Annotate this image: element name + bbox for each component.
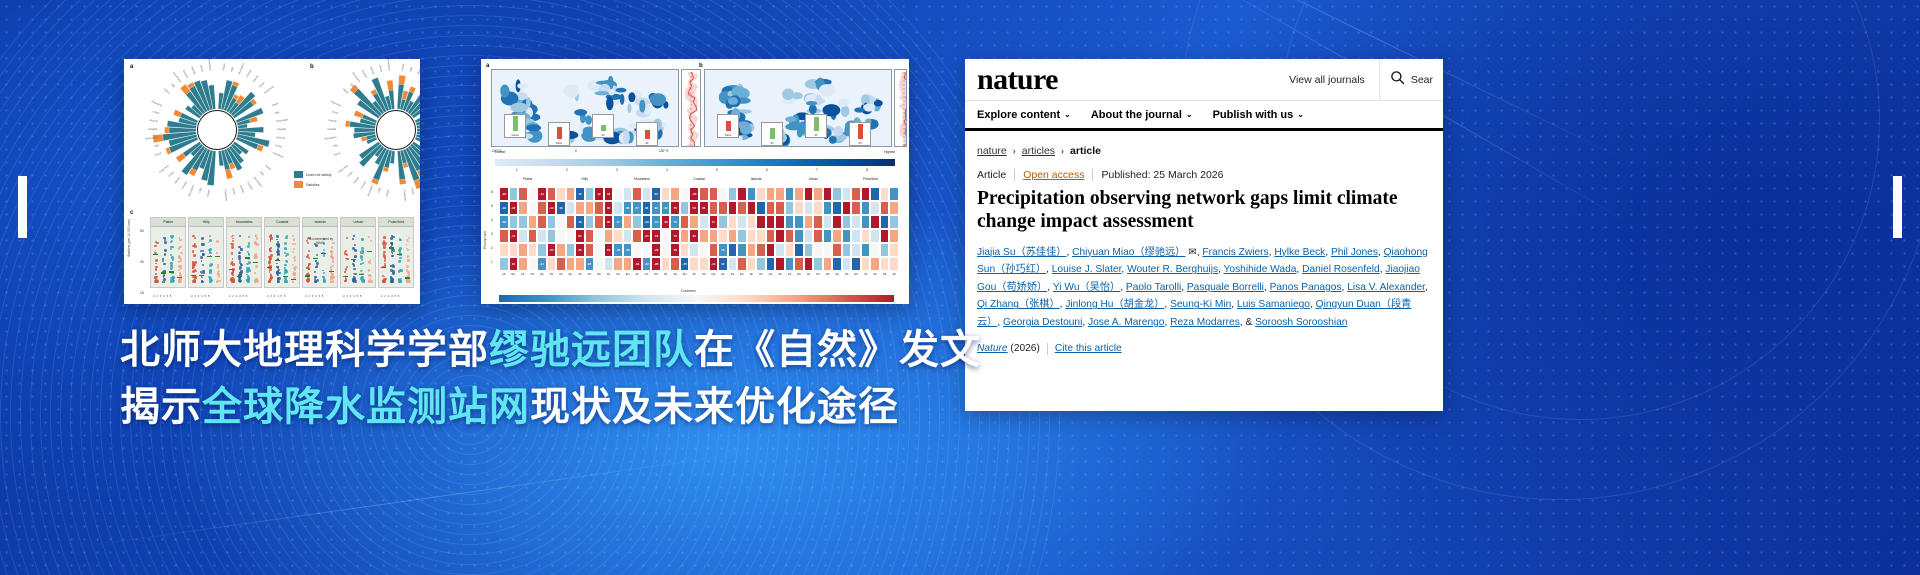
heatmap-xtick: SA: [604, 273, 614, 276]
strip-point: [270, 276, 272, 278]
heatmap-cell: [889, 243, 899, 257]
heatmap-cell: -20: [689, 187, 699, 201]
strip-point: [202, 264, 204, 266]
author-link[interactable]: Panos Panagos: [1270, 282, 1342, 293]
envelope-icon[interactable]: ✉: [1185, 247, 1196, 258]
heatmap-cell: [689, 215, 699, 229]
strip-point: [277, 280, 280, 283]
author-link[interactable]: Paolo Tarolli: [1126, 282, 1181, 293]
heatmap-cell: [728, 215, 738, 229]
strip-point: [218, 276, 220, 278]
author-link[interactable]: Qi Zhang（张棋）: [977, 299, 1060, 310]
strip-point: [269, 250, 272, 253]
author-conjunction: &: [1245, 317, 1255, 328]
heatmap-cell: [604, 257, 614, 271]
headline-run: 现状及未来优化途径: [530, 384, 899, 430]
heatmap-cell: -42: [613, 243, 623, 257]
strip-point: [368, 269, 370, 271]
open-access-link[interactable]: Open access: [1023, 169, 1084, 181]
heatmap-cell: [842, 243, 852, 257]
strip-point: [155, 259, 158, 262]
strip-point: [192, 261, 193, 262]
colorbar-diverging-gradient: [499, 295, 894, 302]
heatmap-cell: 38: [642, 201, 652, 215]
wmo-reference-dash: [381, 267, 385, 268]
strip-point: [238, 257, 241, 260]
strip-point: [308, 263, 311, 266]
heatmap-cell: [718, 201, 728, 215]
heatmap-ylabel: Priority rank: [483, 231, 487, 249]
strip-point: [208, 242, 210, 244]
author-link[interactable]: Georgia Destouni: [1003, 317, 1082, 328]
heatmap-cell: [728, 243, 738, 257]
map-inset-label: Plains: [718, 134, 738, 137]
heatmap-cell: [670, 187, 680, 201]
strip-point: [192, 270, 195, 273]
strip-point: [256, 256, 258, 258]
strip-point: [232, 238, 233, 239]
heatmap-cell: [509, 243, 519, 257]
heatmap-cell: [766, 243, 776, 257]
heatmap-cell: [537, 229, 547, 243]
colorbar-high-label: Highest: [884, 150, 895, 154]
map-inset-box: Plains: [717, 114, 739, 138]
panel-c-ylabel: Stations (per 10,000 km²): [127, 219, 131, 257]
strip-point: [369, 278, 371, 280]
map-inset-label: SA: [762, 142, 782, 145]
heatmap-cell: [528, 215, 538, 229]
heatmap-cell: [680, 215, 690, 229]
author-link[interactable]: Chiyuan Miao（缪驰远）: [1072, 247, 1185, 258]
strip-point: [156, 242, 159, 245]
strip-facet: Urban2 2 3 4 5 5: [340, 217, 376, 288]
heatmap-cell: -11: [709, 257, 719, 271]
cite-this-article-link[interactable]: Cite this article: [1055, 343, 1122, 354]
svg-text:Hilly: Hilly: [408, 66, 413, 72]
strip-point: [383, 246, 386, 249]
heatmap-cell: [689, 257, 699, 271]
strip-facet-xticks: 2 2 3 4 5 5: [343, 295, 362, 298]
colorbar-tick: 8: [866, 168, 868, 172]
heatmap-xtick: AS: [556, 273, 566, 276]
heatmap-cell: [594, 229, 604, 243]
heatmap-cell: -32: [642, 257, 652, 271]
strip-point: [162, 260, 164, 262]
inset-line-b: [894, 69, 907, 147]
heatmap-cell: [728, 187, 738, 201]
author-link[interactable]: Pasquale Borrelli: [1187, 282, 1264, 293]
strip-point: [408, 237, 410, 239]
heatmap-cell: [528, 201, 538, 215]
strip-point: [171, 240, 173, 242]
nav-label: Publish with us: [1213, 109, 1294, 121]
colorbar-tick: 5: [716, 168, 718, 172]
nature-logo[interactable]: nature: [977, 65, 1058, 95]
strip-point: [286, 281, 288, 283]
strip-point: [256, 243, 259, 246]
breadcrumb-separator: ›: [1061, 146, 1064, 156]
strip-point: [164, 249, 166, 251]
strip-point: [382, 242, 385, 245]
map-inset-bar: [557, 127, 562, 139]
strip-point: [209, 272, 211, 274]
heatmap-cell: 36: [604, 215, 614, 229]
heatmap-group-label: Islands: [728, 177, 785, 181]
heatmap-xtick: SA: [661, 273, 671, 276]
view-all-journals-link[interactable]: View all journals: [1275, 74, 1379, 86]
colorbar-tick: 6: [766, 168, 768, 172]
svg-text:Islands: Islands: [328, 118, 337, 123]
strip-point: [354, 273, 357, 276]
heatmap-cell: [556, 243, 566, 257]
svg-text:Mountains: Mountains: [416, 62, 420, 75]
heatmap-cell: [718, 215, 728, 229]
heatmap-cell: -11: [537, 187, 547, 201]
heatmap-cell: [851, 243, 861, 257]
strip-point: [276, 243, 278, 245]
svg-text:Hilly: Hilly: [333, 143, 339, 148]
strip-point: [232, 271, 234, 273]
strip-point: [232, 274, 234, 276]
strip-point: [276, 272, 279, 275]
search-label[interactable]: Sear: [1411, 74, 1433, 86]
heatmap-cell: -14: [547, 201, 557, 215]
legend-item: Does not satisfy: [294, 171, 332, 178]
strip-point: [293, 248, 294, 249]
svg-text:Polar/Arid: Polar/Arid: [402, 189, 407, 201]
strip-point: [368, 261, 371, 264]
strip-point: [201, 237, 204, 240]
strip-point: [322, 270, 324, 272]
heatmap-xtick: AS: [728, 273, 738, 276]
strip-facet-xticks: 2 2 3 4 5 5: [191, 295, 210, 298]
strip-point: [292, 281, 294, 283]
heatmap-cell: [566, 215, 576, 229]
author-link[interactable]: Phil Jones: [1331, 247, 1378, 258]
author-link[interactable]: Lisa V. Alexander: [1347, 282, 1425, 293]
heatmap-cell: [518, 215, 528, 229]
wmo-reference-dash: [313, 258, 317, 259]
heatmap-xtick: EU: [566, 273, 576, 276]
strip-point: [179, 239, 181, 241]
heatmap-cell: [880, 187, 890, 201]
heatmap-cell: [556, 215, 566, 229]
strip-point: [269, 259, 271, 261]
heatmap-cell: 73: [670, 229, 680, 243]
map-inset-box: Global: [504, 114, 526, 138]
heatmap-cell: [699, 215, 709, 229]
heatmap-xtick: EU: [680, 273, 690, 276]
author-link[interactable]: Yoshihide Wada: [1224, 264, 1297, 275]
heatmap-cell: [851, 257, 861, 271]
heatmap-cell: [804, 243, 814, 257]
heatmap-cell: [585, 187, 595, 201]
strip-point: [192, 251, 194, 253]
heatmap-cell: [842, 229, 852, 243]
svg-text:Mountains: Mountains: [351, 71, 362, 83]
wmo-reference-dash: [215, 256, 219, 257]
heatmap-cell: [785, 243, 795, 257]
heatmap-cell: [813, 187, 823, 201]
nav-item-about-the-journal[interactable]: About the journal ⌄: [1091, 109, 1193, 121]
author-link[interactable]: Yi Wu（吴怡）: [1053, 282, 1120, 293]
article-title: Precipitation observing network gaps lim…: [965, 181, 1443, 234]
heatmap-xtick: AS: [613, 273, 623, 276]
wmo-reference-dash: [253, 262, 257, 263]
heatmap-cell: 33: [651, 187, 661, 201]
heatmap-cell: [566, 229, 576, 243]
heatmap-cell: [785, 201, 795, 215]
breadcrumb-item-article: article: [1070, 145, 1101, 157]
strip-point: [171, 256, 174, 259]
colorbar-tick: 4: [666, 168, 668, 172]
heatmap-cell: [747, 229, 757, 243]
author-link[interactable]: Daniel Rosenfeld: [1302, 264, 1380, 275]
strip-point: [231, 246, 234, 249]
strip-point: [164, 241, 167, 244]
heatmap-cell: [585, 201, 595, 215]
heatmap-cell: 35: [575, 243, 585, 257]
strip-point: [316, 254, 318, 256]
author-link[interactable]: Jinlong Hu（胡金龙）: [1065, 299, 1164, 310]
heatmap-ytick: 4: [491, 218, 493, 222]
heatmap-cell: 53: [689, 201, 699, 215]
colorbar-tick: 7: [816, 168, 818, 172]
breadcrumb-item-nature[interactable]: nature: [977, 145, 1007, 157]
strip-point: [209, 269, 211, 271]
heatmap-cell: [632, 229, 642, 243]
heatmap-cell: [870, 215, 880, 229]
svg-text:Urban: Urban: [378, 64, 384, 72]
author-link[interactable]: Jose A. Marengo: [1088, 317, 1164, 328]
nav-label: Explore content: [977, 109, 1060, 121]
heatmap-xtick: AF: [804, 273, 814, 276]
heatmap-cell: [613, 229, 623, 243]
strip-point: [202, 271, 205, 274]
breadcrumb-item-articles[interactable]: articles: [1022, 145, 1055, 157]
strip-facet-xticks: 2 2 3 4 5 5: [153, 295, 172, 298]
heatmap-cell: [728, 257, 738, 271]
strip-point: [269, 281, 271, 283]
heatmap-cell: [728, 201, 738, 215]
heatmap-group-label: Polar/Arid: [842, 177, 899, 181]
author-link[interactable]: Soroosh Sorooshian: [1255, 317, 1347, 328]
heatmap-cell: [813, 257, 823, 271]
strip-point: [194, 243, 196, 245]
heatmap-cell: 12: [594, 187, 604, 201]
map-inset-box: AF: [805, 114, 827, 138]
map-inset-label: SA: [593, 134, 613, 137]
headline-line-1: 北师大地理科学学部缪驰远团队在《自然》发文: [120, 322, 950, 379]
strip-point: [218, 280, 221, 283]
strip-point: [155, 250, 156, 251]
strip-point: [247, 245, 250, 248]
strip-point: [332, 265, 334, 267]
heatmap-cell: [566, 187, 576, 201]
heatmap-cell: [585, 229, 595, 243]
author-link[interactable]: Reza Modarres: [1170, 317, 1240, 328]
heatmap-cell: [889, 215, 899, 229]
heatmap-cell: [794, 257, 804, 271]
strip-facet-xticks: 2 2 3 4 5 5: [229, 295, 248, 298]
heatmap-cell: -23: [661, 215, 671, 229]
heatmap-xtick: NA: [880, 273, 890, 276]
panel-c-ytick: 30: [140, 260, 144, 264]
strip-point: [346, 258, 349, 261]
strip-point: [201, 243, 203, 245]
heatmap-cell: [880, 243, 890, 257]
heatmap-cell: [794, 215, 804, 229]
map-inset-bar: [770, 128, 775, 139]
heatmap-cell: [823, 229, 833, 243]
strip-point: [171, 280, 173, 282]
colorbar-low-label: Lowest: [495, 150, 505, 154]
heatmap-group-label: Urban: [785, 177, 842, 181]
strip-point: [239, 272, 241, 274]
heatmap-cell: [737, 229, 747, 243]
strip-point: [346, 237, 348, 239]
wmo-reference-dash: [229, 269, 233, 270]
author-link[interactable]: Jiajia Su（苏佳佳）: [977, 247, 1066, 258]
legend-item: Satisfies: [294, 181, 332, 188]
heatmap-cell: [737, 257, 747, 271]
strip-point: [232, 258, 233, 259]
strip-point: [323, 272, 325, 274]
svg-text:Plains: Plains: [400, 62, 405, 70]
heatmap-cell: [804, 201, 814, 215]
nav-item-explore-content[interactable]: Explore content ⌄: [977, 109, 1071, 121]
heatmap-cell: [775, 215, 785, 229]
strip-point: [210, 280, 212, 282]
author-separator: ,: [1425, 282, 1428, 293]
heatmap-cell: [842, 187, 852, 201]
heatmap-cell: [851, 229, 861, 243]
heatmap-cell: -22: [509, 201, 519, 215]
strip-point: [162, 258, 164, 260]
heatmap-cell: [842, 215, 852, 229]
strip-point: [216, 252, 218, 254]
heatmap-xtick: OC: [528, 273, 538, 276]
strip-facet-xticks: 2 2 3 4 5 5: [267, 295, 286, 298]
strip-point: [330, 235, 332, 237]
strip-point: [354, 244, 357, 247]
strip-point: [406, 244, 408, 246]
heatmap-cell: [794, 229, 804, 243]
strip-point: [293, 238, 296, 241]
heatmap-xtick: NA: [537, 273, 547, 276]
heatmap-cell: [785, 187, 795, 201]
map-inset-label: AF: [806, 134, 826, 137]
heatmap-cell: [747, 257, 757, 271]
chevron-down-icon: ⌄: [1186, 111, 1193, 119]
svg-text:Plains: Plains: [385, 188, 390, 196]
author-link[interactable]: Wouter R. Berghuijs: [1127, 264, 1218, 275]
strip-facet: Hilly2 2 3 4 5 5: [188, 217, 224, 288]
heatmap-cell: [775, 257, 785, 271]
nav-label: About the journal: [1091, 109, 1182, 121]
strip-facet: Polar/Arid2 2 3 4 5 5: [378, 217, 414, 288]
strip-point: [407, 241, 408, 242]
strip-facet: Plains2 2 3 4 5 5: [150, 217, 186, 288]
headline-run: 缪驰远团队: [489, 327, 694, 373]
heatmap-cell: [737, 187, 747, 201]
heatmap-cell: [832, 243, 842, 257]
citation-journal[interactable]: Nature: [977, 343, 1008, 354]
heatmap-cell: [594, 201, 604, 215]
heatmap-cell: [594, 243, 604, 257]
heatmap-cell: [851, 201, 861, 215]
author-link[interactable]: Louise J. Slater: [1052, 264, 1122, 275]
headline-run: 北师大地理科学学部: [120, 327, 489, 373]
heatmap-cell: [832, 201, 842, 215]
accent-bar-left: [18, 176, 27, 238]
author-link[interactable]: Francis Zwiers: [1202, 247, 1268, 258]
wmo-reference-dash: [161, 272, 165, 273]
strip-point: [346, 254, 348, 256]
strip-point: [248, 236, 250, 238]
heatmap-xtick: AS: [499, 273, 509, 276]
strip-point: [406, 235, 407, 236]
heatmap-grid: -16-11-18-22-14-18-17-2410-2115124440304…: [499, 187, 899, 271]
wmo-reference-dash: [351, 259, 355, 260]
strip-facet-xticks: 2 2 3 4 5 5: [381, 295, 400, 298]
author-link[interactable]: Seung-Ki Min: [1170, 299, 1231, 310]
strip-point: [256, 237, 258, 239]
wmo-reference-dash: [305, 275, 309, 276]
heatmap-cell: 12: [718, 257, 728, 271]
heatmap-cell: [766, 187, 776, 201]
heatmap-cell: -17: [509, 229, 519, 243]
author-link[interactable]: Hylke Beck: [1274, 247, 1325, 258]
heatmap-cell: [766, 257, 776, 271]
heatmap-cell: [623, 229, 633, 243]
strip-point: [383, 236, 386, 239]
author-link[interactable]: Luis Samaniego: [1237, 299, 1310, 310]
heatmap-cell: [775, 187, 785, 201]
heatmap-cell: [813, 243, 823, 257]
strip-point: [344, 281, 346, 283]
search-group[interactable]: Sear: [1379, 59, 1443, 100]
heatmap-cell: [718, 187, 728, 201]
legend-label-satisfies: Satisfies: [306, 183, 320, 187]
strip-point: [353, 268, 356, 271]
heatmap-xtick: OC: [585, 273, 595, 276]
svg-text:Plains: Plains: [342, 87, 351, 95]
heatmap-cell: [823, 201, 833, 215]
search-icon[interactable]: [1390, 70, 1405, 90]
heatmap-cell: -29: [651, 243, 661, 257]
heatmap-cell: [813, 229, 823, 243]
svg-text:Mountains: Mountains: [366, 184, 375, 197]
heatmap-cell: [823, 243, 833, 257]
map-inset-bar: [645, 130, 650, 139]
strip-point: [154, 245, 156, 247]
heatmap-cell: [861, 201, 871, 215]
heatmap-cell: 27: [632, 201, 642, 215]
nav-item-publish-with-us[interactable]: Publish with us ⌄: [1213, 109, 1304, 121]
wmo-reference-dash: [169, 271, 173, 272]
heatmap-cell: [766, 229, 776, 243]
heatmap-cell: [518, 229, 528, 243]
article-type: Article: [977, 169, 1006, 181]
strip-point: [246, 274, 248, 276]
strip-point: [180, 252, 183, 255]
heatmap-cell: 10: [509, 257, 519, 271]
wmo-reference-dash: [321, 253, 325, 254]
heatmap-group-label: Plains: [499, 177, 556, 181]
heatmap-cell: [766, 215, 776, 229]
heatmap-cell: [756, 201, 766, 215]
